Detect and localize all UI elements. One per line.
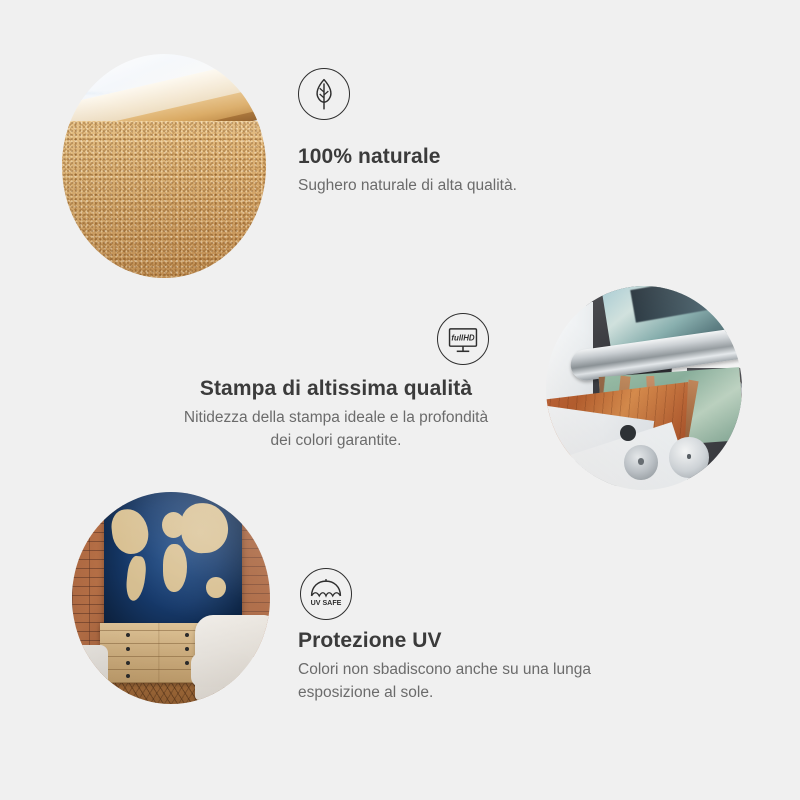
photo-shading-layer	[62, 54, 266, 278]
feature-print-quality-title: Stampa di altissima qualità	[180, 376, 492, 401]
umbrella-uv-safe-icon: UV SAFE	[300, 568, 352, 620]
cork-texture-photo	[62, 54, 266, 278]
feature-uv-protection-title: Protezione UV	[298, 628, 668, 653]
world-map-interior-photo	[72, 492, 270, 704]
monitor-fullhd-icon-label: fullHD	[451, 333, 474, 342]
photo-shading-layer	[72, 492, 270, 704]
feature-natural-title: 100% naturale	[298, 144, 628, 169]
photo-shading-layer	[546, 286, 742, 490]
feature-uv-protection-subtitle: Colori non sbadiscono anche su una lunga…	[298, 659, 668, 704]
feature-natural-subtitle: Sughero naturale di alta qualità.	[298, 175, 628, 197]
feature-natural-text: 100% naturale Sughero naturale di alta q…	[298, 144, 628, 198]
feature-print-quality-subtitle: Nitidezza della stampa ideale e la profo…	[180, 407, 492, 452]
monitor-fullhd-icon: fullHD	[437, 313, 489, 365]
umbrella-uv-safe-icon-label: UV SAFE	[311, 599, 342, 607]
printing-machine-photo	[546, 286, 742, 490]
feature-print-quality-text: Stampa di altissima qualità Nitidezza de…	[180, 376, 492, 452]
leaf-icon	[298, 68, 350, 120]
feature-highlights-panel: 100% naturale Sughero naturale di alta q…	[0, 0, 800, 800]
feature-uv-protection-text: Protezione UV Colori non sbadiscono anch…	[298, 628, 668, 704]
